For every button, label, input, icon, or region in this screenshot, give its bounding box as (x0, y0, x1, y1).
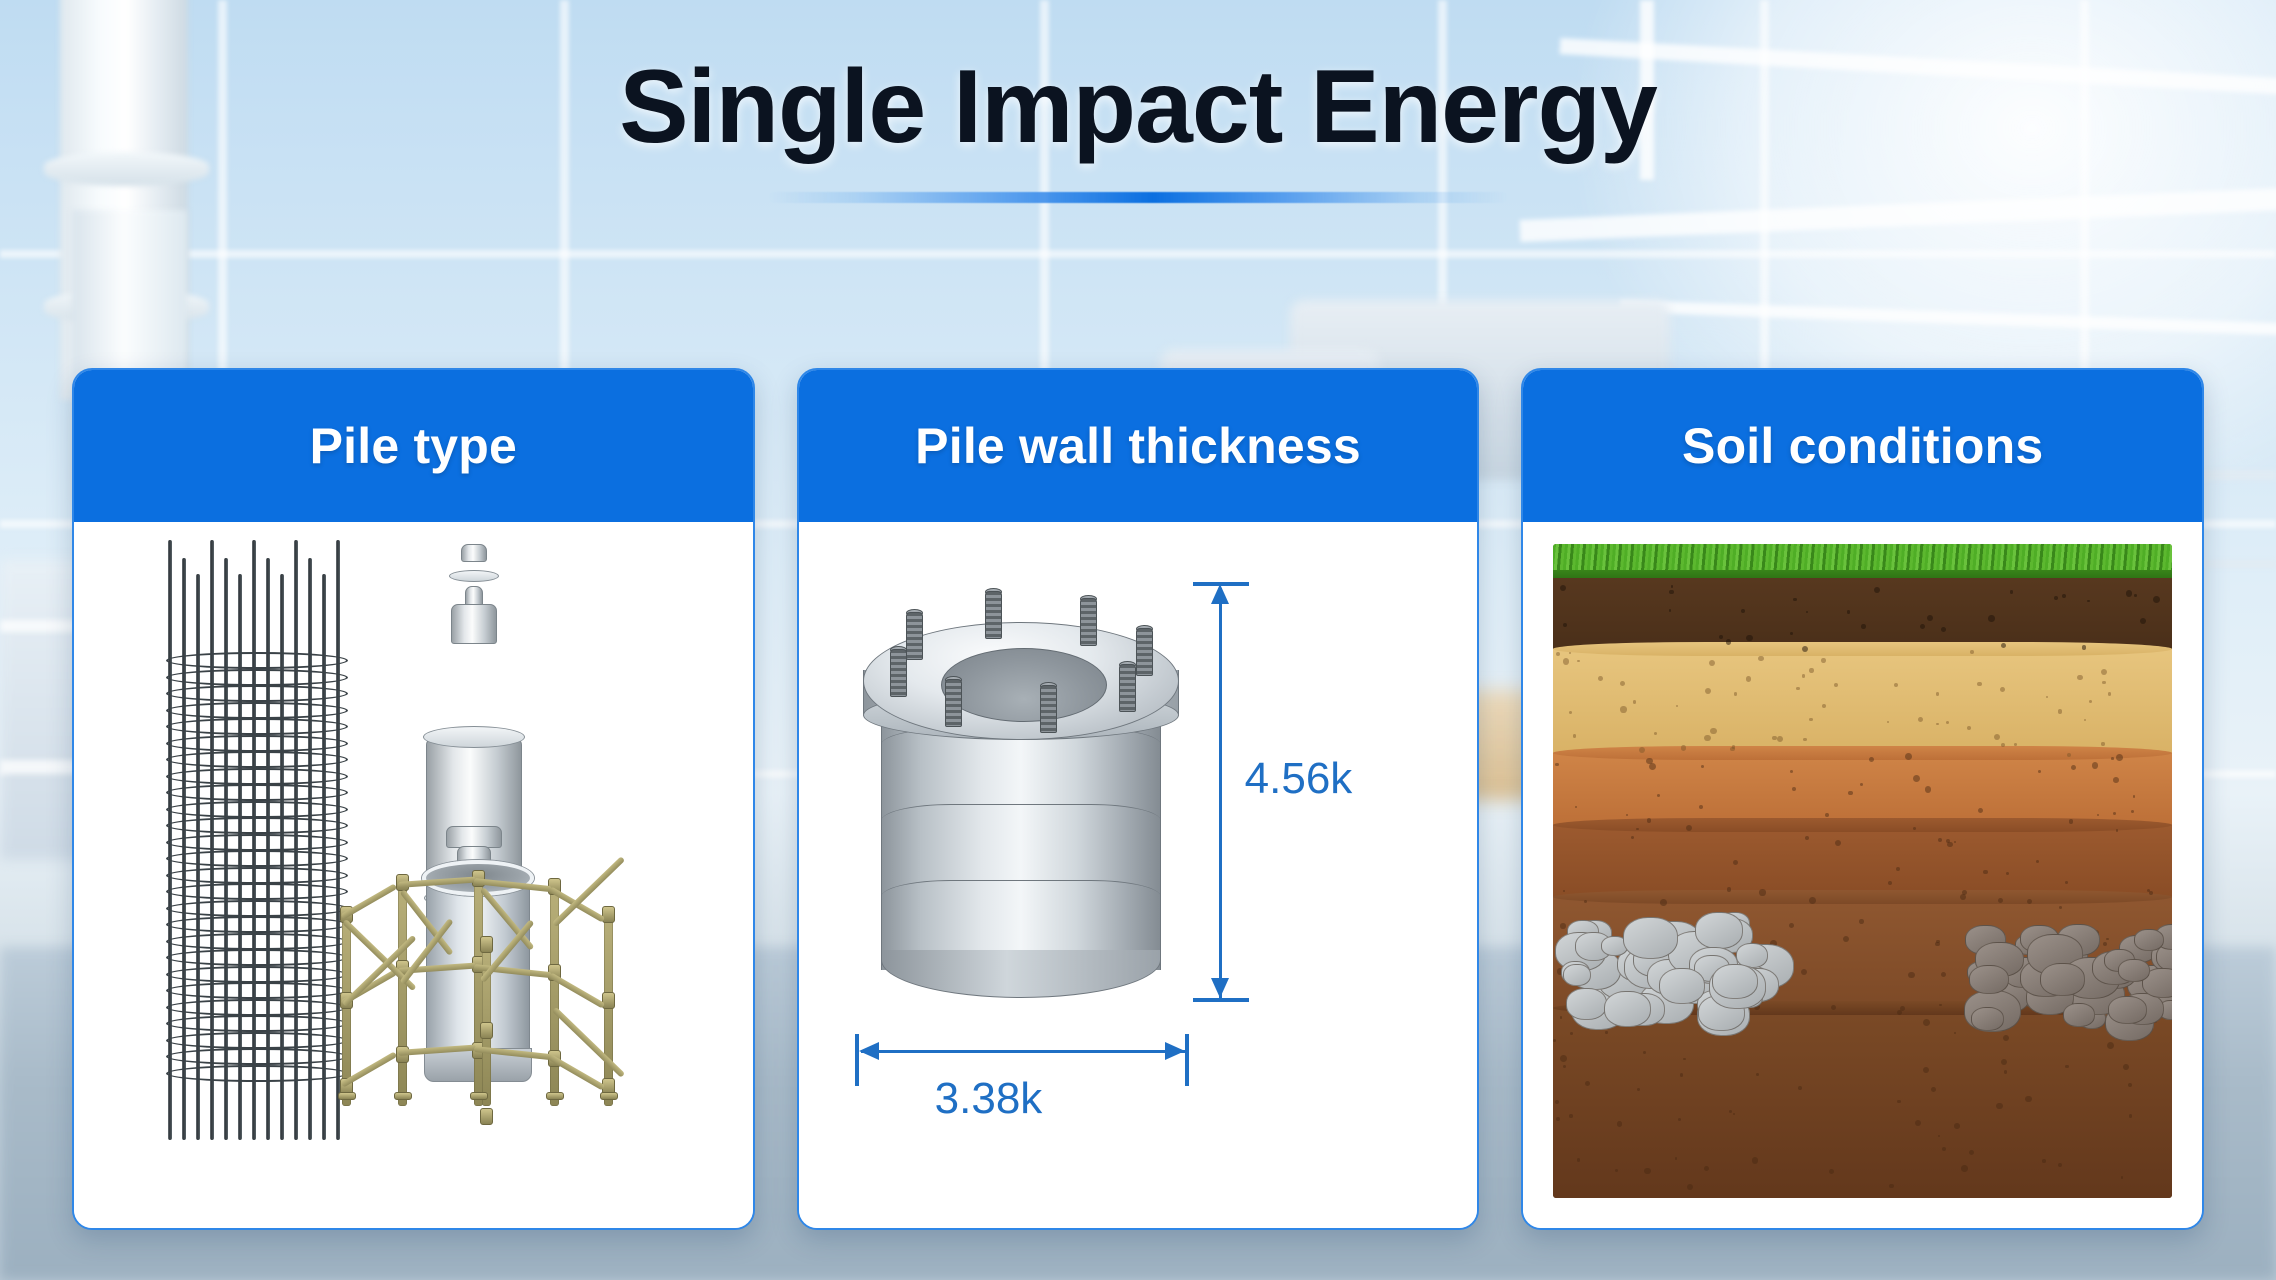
soil-speck (2131, 810, 2134, 813)
card-body-soil-conditions (1523, 522, 2202, 1228)
soil-speck (2069, 819, 2073, 823)
soil-speck (1913, 775, 1920, 782)
soil-speck (1983, 870, 1988, 875)
flange-bolt (945, 679, 962, 727)
soil-speck (2101, 742, 2104, 745)
soil-speck (1577, 660, 1579, 662)
rebar-hoop (166, 867, 348, 884)
soil-layer-boundary (1553, 642, 2172, 656)
dim-line-horizontal (861, 1050, 1185, 1053)
soil-speck (1560, 1016, 1562, 1018)
soil-speck (1741, 609, 1745, 613)
soil-speck (1994, 734, 2000, 740)
rebar-hoop (166, 966, 348, 983)
soil-speck (2108, 692, 2111, 695)
soil-speck (1605, 1031, 1607, 1033)
soil-speck (1726, 639, 1731, 644)
soil-speck (1584, 900, 1587, 903)
flange-bolt (1136, 628, 1153, 676)
rebar-hoop (166, 933, 348, 950)
soil-speck (2001, 643, 2006, 648)
soil-speck (2123, 1064, 2129, 1070)
soil-speck (1887, 721, 1889, 723)
soil-speck (1660, 899, 1667, 906)
rebar-hoop (166, 883, 348, 900)
soil-speck (2126, 590, 2132, 596)
soil-speck (1569, 1114, 1573, 1118)
cylinder-bore (941, 648, 1107, 722)
soil-speck (1927, 615, 1933, 621)
scaffold-pile-frame-illustration (332, 852, 622, 1102)
soil-speck (2113, 777, 2119, 783)
soil-speck (2134, 594, 2137, 597)
soil-speck (1669, 590, 1674, 595)
soil-speck (1719, 635, 1723, 639)
cobble-stone (1566, 988, 1607, 1020)
soil-speck (1931, 1087, 1936, 1092)
dim-arrow-down-icon (1211, 978, 1229, 998)
cobble-stone (2118, 959, 2150, 982)
soil-speck (1563, 1065, 1566, 1068)
soil-speck (2111, 757, 2114, 760)
flange-bolt (1040, 685, 1057, 733)
soil-speck (1897, 1100, 1900, 1103)
cobble-stone (1971, 1007, 2004, 1031)
soil-speck (1978, 808, 1983, 813)
soil-speck (2001, 743, 2005, 747)
hammer-lower-neck (446, 826, 502, 848)
soil-speck (1734, 692, 1737, 695)
scaffold-joint (480, 1022, 493, 1039)
soil-speck (1598, 676, 1603, 681)
soil-speck (1954, 1123, 1960, 1129)
soil-speck (1569, 711, 1572, 714)
rebar-hoop (166, 850, 348, 867)
soil-speck (2058, 709, 2063, 714)
card-body-pile-type (74, 522, 753, 1228)
soil-speck (1620, 706, 1626, 712)
scaffold-base-plate (546, 1092, 564, 1100)
soil-speck (1756, 1073, 1759, 1076)
rebar-hoop (166, 1065, 348, 1082)
card-title-soil-conditions: Soil conditions (1682, 417, 2043, 475)
soil-speck (1936, 692, 1940, 696)
rebar-hoop (166, 949, 348, 966)
soil-speck (1563, 658, 1569, 664)
hammer-body-top-rim (423, 726, 525, 748)
scaffold-post (398, 878, 407, 1106)
rebar-hoop (166, 801, 348, 818)
soil-speck (1683, 1058, 1685, 1060)
scaffold-joint (602, 906, 615, 923)
soil-speck (2001, 1059, 2007, 1065)
flange-bolt (1080, 598, 1097, 646)
scaffold-base-plate (394, 1092, 412, 1100)
soil-speck (1654, 732, 1657, 735)
scaffold-base-plate (470, 1092, 488, 1100)
soil-speck (1733, 1113, 1735, 1115)
title-divider (768, 192, 1508, 203)
cylinder-ring (881, 880, 1161, 914)
soil-speck (2116, 829, 2119, 832)
soil-speck (1560, 585, 1566, 591)
rebar-hoop (166, 718, 348, 735)
soil-speck (1585, 1081, 1590, 1086)
soil-speck (1923, 1067, 1929, 1073)
soil-speck (1752, 1157, 1758, 1163)
soil-speck (1758, 656, 1763, 661)
rebar-hoop (166, 982, 348, 999)
soil-speck (1646, 758, 1653, 765)
soil-speck (1556, 652, 1560, 656)
dim-label-height: 4.56k (1245, 754, 1353, 804)
rebar-hoop (166, 999, 348, 1016)
soil-speck (1946, 721, 1949, 724)
soil-speck (2004, 1070, 2007, 1073)
title-block: Single Impact Energy (0, 52, 2276, 203)
soil-layer-sandy-silt (1553, 649, 2172, 754)
soil-speck (2054, 596, 2058, 600)
card-title-pile-type: Pile type (310, 417, 517, 475)
soil-speck (2071, 765, 2076, 770)
scaffold-ledger (341, 883, 398, 919)
soil-speck (2092, 762, 2098, 768)
scaffold-base-plate (338, 1092, 356, 1100)
grass-blades (1553, 544, 2172, 570)
soil-speck (1573, 734, 1576, 737)
soil-speck (1825, 813, 1829, 817)
rebar-hoop (166, 817, 348, 834)
soil-speck (1925, 786, 1932, 793)
rebar-hoop (166, 784, 348, 801)
soil-speck (2084, 719, 2086, 721)
soil-speck (1644, 1168, 1650, 1174)
soil-speck (1710, 728, 1717, 735)
flange-bolt (1119, 664, 1136, 712)
rebar-hoop (166, 768, 348, 785)
soil-speck (2038, 770, 2041, 773)
scaffold-base-plate (600, 1092, 618, 1100)
rebar-hoop (166, 652, 348, 669)
soil-speck (1935, 942, 1940, 947)
soil-layer-clay (1553, 753, 2172, 825)
soil-speck (1913, 827, 1916, 830)
cobble-stone (1563, 964, 1591, 986)
soil-speck (1555, 1100, 1559, 1104)
soil-speck (2065, 1065, 2069, 1069)
soil-speck (2116, 754, 2123, 761)
soil-speck (2102, 681, 2106, 685)
soil-speck (1908, 972, 1915, 979)
hammer-upper-block (451, 604, 497, 644)
soil-speck (2025, 1096, 2031, 1102)
soil-speck (2062, 594, 2066, 598)
cobble-stone (1659, 968, 1705, 1004)
soil-speck (2107, 1042, 2114, 1049)
soil-speck (1746, 676, 1752, 682)
cylinder-base (881, 950, 1161, 998)
soil-speck (1733, 860, 1738, 865)
rebar-hoop (166, 1015, 348, 1032)
cobble-stone (1969, 965, 2009, 994)
soil-speck (1809, 718, 1812, 721)
dim-label-width: 3.38k (935, 1074, 1043, 1124)
soil-speck (1961, 1165, 1968, 1172)
rebar-hoop (166, 916, 348, 933)
card-row: Pile type Pile wall thickness (72, 368, 2204, 1230)
soil-speck (1938, 1135, 1940, 1137)
soil-layer-stiff-clay (1553, 825, 2172, 897)
hammer-upper-rim (449, 570, 499, 582)
rebar-hoop (166, 751, 348, 768)
dim-extension-right (1185, 1034, 1189, 1086)
soil-speck (1996, 1103, 2002, 1109)
rebar-hoop (166, 702, 348, 719)
cobble-stone (2040, 963, 2085, 996)
cobble-stone (1623, 917, 1678, 959)
scaffold-joint (480, 936, 493, 953)
soil-speck (2106, 938, 2108, 940)
soil-speck (2153, 596, 2160, 603)
soil-speck (1962, 890, 1967, 895)
soil-speck (2003, 1035, 2009, 1041)
soil-speck (1970, 650, 1974, 654)
card-title-pile-wall-thickness: Pile wall thickness (915, 417, 1361, 475)
card-pile-type[interactable]: Pile type (72, 368, 755, 1230)
soil-speck (1729, 1110, 1732, 1113)
soil-speck (1809, 897, 1816, 904)
scaffold-joint (602, 992, 615, 1009)
soil-speck (1759, 889, 1765, 895)
soil-speck (2027, 899, 2032, 904)
soil-speck (1560, 923, 1566, 929)
cylinder-ring (881, 804, 1161, 838)
dim-extension-bottom (1193, 998, 1249, 1002)
rebar-hoop (166, 669, 348, 686)
dim-line-vertical (1219, 588, 1222, 998)
soil-speck (1988, 615, 1995, 622)
soil-speck (1809, 668, 1813, 672)
dim-arrow-up-icon (1211, 584, 1229, 604)
soil-cross-section-illustration (1553, 544, 2172, 1198)
rebar-cage-illustration (162, 540, 352, 1140)
card-pile-wall-thickness[interactable]: Pile wall thickness (797, 368, 1480, 1230)
card-soil-conditions[interactable]: Soil conditions (1521, 368, 2204, 1230)
page-title: Single Impact Energy (0, 52, 2276, 162)
rebar-hoop (166, 1032, 348, 1049)
soil-speck (1704, 735, 1710, 741)
soil-speck (1831, 1005, 1836, 1010)
rebar-hoop (166, 834, 348, 851)
flange-bolt (985, 591, 1002, 639)
soil-speck (1869, 757, 1874, 762)
hydraulic-hammer-illustration (394, 530, 554, 870)
cobble-stone (2134, 929, 2164, 951)
soil-speck (1687, 1184, 1693, 1190)
soil-speck (1732, 745, 1736, 749)
rebar-hoop (166, 735, 348, 752)
soil-speck (1920, 624, 1925, 629)
soil-speck (2010, 590, 2013, 593)
soil-speck (2128, 1083, 2132, 1087)
soil-speck (1915, 1120, 1922, 1127)
card-body-pile-wall-thickness: 4.56k 3.38k (799, 522, 1478, 1228)
flange-bolt (890, 649, 907, 697)
soil-speck (1772, 736, 1777, 741)
soil-speck (1615, 1169, 1619, 1173)
soil-speck (1859, 919, 1864, 924)
rebar-hoop (166, 685, 348, 702)
card-header-pile-type: Pile type (74, 370, 753, 522)
cobble-stone (1695, 912, 1743, 949)
dim-arrow-right-icon (1165, 1042, 1185, 1060)
soil-speck (1746, 635, 1752, 641)
soil-speck (2042, 1159, 2046, 1163)
soil-speck (1896, 867, 1900, 871)
cobble-stone (2108, 996, 2147, 1024)
dim-arrow-left-icon (859, 1042, 879, 1060)
scaffold-joint (480, 1108, 493, 1125)
card-header-pile-wall-thickness: Pile wall thickness (799, 370, 1478, 522)
rebar-hoop (166, 1048, 348, 1065)
soil-speck (2077, 675, 2082, 680)
soil-speck (1969, 1150, 1974, 1155)
hammer-collar (461, 544, 487, 562)
cobble-stone (1604, 991, 1651, 1027)
soil-speck (1806, 611, 1808, 613)
flanged-cylinder-illustration (855, 578, 1195, 1018)
flange-bolt (906, 612, 923, 660)
cobble-stone (2063, 1003, 2095, 1027)
soil-speck (1803, 738, 1807, 742)
soil-speck (1636, 828, 1638, 830)
cobble-stone (1712, 964, 1758, 999)
card-header-soil-conditions: Soil conditions (1523, 370, 2202, 522)
soil-speck (1889, 1184, 1894, 1189)
soil-speck (1678, 1118, 1681, 1121)
soil-layer-boundary (1553, 890, 2172, 904)
soil-speck (1848, 791, 1852, 795)
rebar-hoop (166, 900, 348, 917)
